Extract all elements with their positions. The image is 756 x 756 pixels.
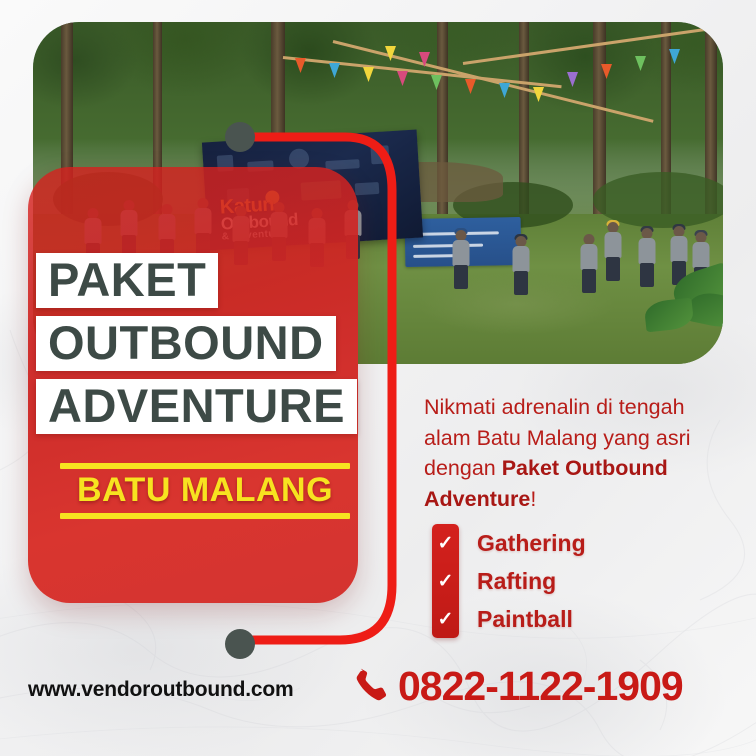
description-suffix: ! bbox=[530, 487, 536, 511]
checklist-label: Paintball bbox=[477, 606, 573, 633]
phone-number: 0822-1122-1909 bbox=[398, 666, 683, 707]
headline-line-1: PAKET bbox=[36, 253, 218, 308]
headline-line-3: ADVENTURE bbox=[36, 379, 357, 434]
photo-banner-line bbox=[413, 244, 483, 248]
photo-person-legs bbox=[606, 257, 620, 281]
list-item: ✓ Gathering bbox=[432, 524, 722, 562]
footer-bar: www.vendoroutbound.com 0822-1122-1909 bbox=[0, 666, 756, 728]
phone-contact[interactable]: 0822-1122-1909 bbox=[352, 666, 683, 707]
poster-canvas: Katun Outbound & Adventure bbox=[0, 0, 756, 756]
checklist-label: Gathering bbox=[477, 530, 586, 557]
photo-person-body bbox=[639, 238, 656, 264]
city-subheadline-block: BATU MALANG bbox=[60, 463, 350, 519]
photo-flag-graphic bbox=[370, 145, 389, 164]
city-label: BATU MALANG bbox=[60, 469, 350, 513]
photo-person-body bbox=[513, 246, 530, 272]
photo-person-legs bbox=[454, 265, 468, 289]
photo-flag-graphic bbox=[325, 159, 359, 170]
check-icon: ✓ bbox=[432, 610, 459, 629]
photo-person-body bbox=[693, 242, 710, 268]
photo-person-legs bbox=[582, 269, 596, 293]
list-item: ✓ Rafting bbox=[432, 562, 722, 600]
phone-handset-icon bbox=[352, 667, 392, 707]
photo-person-body bbox=[671, 236, 688, 262]
photo-person-legs bbox=[514, 271, 528, 295]
headline-line-2: OUTBOUND bbox=[36, 316, 336, 371]
photo-person-legs bbox=[640, 263, 654, 287]
description-paragraph: Nikmati adrenalin di tengah alam Batu Ma… bbox=[424, 392, 724, 514]
photo-person-body bbox=[581, 244, 598, 270]
check-icon: ✓ bbox=[432, 534, 459, 553]
route-endpoint-dot-bottom bbox=[225, 629, 255, 659]
website-url[interactable]: www.vendoroutbound.com bbox=[28, 678, 293, 702]
headline-block: PAKET OUTBOUND ADVENTURE bbox=[36, 253, 366, 442]
photo-flag-graphic bbox=[355, 182, 380, 195]
photo-person-body bbox=[605, 232, 622, 258]
list-item: ✓ Paintball bbox=[432, 600, 722, 638]
photo-person-body bbox=[453, 240, 470, 266]
checklist-label: Rafting bbox=[477, 568, 556, 595]
check-icon: ✓ bbox=[432, 572, 459, 591]
feature-checklist: ✓ Gathering ✓ Rafting ✓ Paintball bbox=[432, 524, 722, 638]
city-rule-bottom bbox=[60, 513, 350, 519]
